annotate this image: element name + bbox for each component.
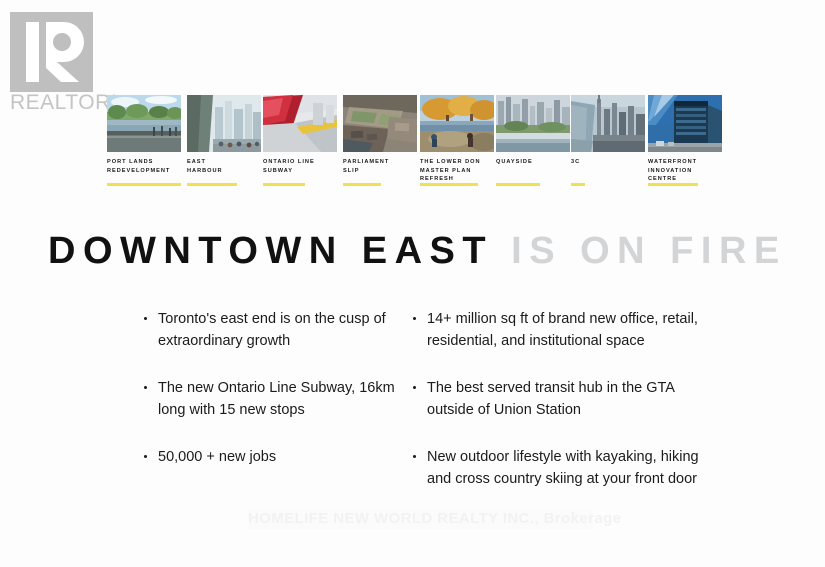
page-title-muted: IS ON FIRE (493, 230, 787, 272)
list-item: The best served transit hub in the GTA o… (410, 377, 700, 422)
project-item-parliament-slip[interactable]: PARLIAMENTSLIP (343, 95, 417, 152)
project-rule-3c (571, 183, 585, 186)
project-thumbnail-toronto-skyline-aerial-image (571, 95, 645, 152)
project-label-ontario-line-subway: ONTARIO LINESUBWAY (263, 158, 315, 175)
list-item: New outdoor lifestyle with kayaking, hik… (410, 446, 700, 491)
project-item-port-lands[interactable]: PORT LANDSREDEVELOPMENT (107, 95, 181, 152)
project-label-east-harbour: EASTHARBOUR (187, 158, 223, 175)
project-thumbnail-glass-towers-image (187, 95, 261, 152)
realtor-wordmark: REALTOR® (10, 92, 118, 113)
project-label-lower-don-master-plan: THE LOWER DONMASTER PLANREFRESH (420, 158, 481, 184)
project-thumbnail-autumn-river-park-image (420, 95, 494, 152)
project-item-east-harbour[interactable]: EASTHARBOUR (187, 95, 261, 152)
project-thumbnail-city-waterfront-image (496, 95, 570, 152)
brokerage-watermark: HOMELIFE NEW WORLD REALTY INC., Brokerag… (248, 509, 593, 529)
list-item: The new Ontario Line Subway, 16km long w… (141, 377, 403, 422)
project-label-3c: 3C (571, 158, 580, 167)
project-label-port-lands: PORT LANDSREDEVELOPMENT (107, 158, 170, 175)
project-thumbnail-blue-glass-office-image (648, 95, 722, 152)
page-title-strong: DOWNTOWN EAST (48, 230, 493, 272)
project-rule-parliament-slip (343, 183, 381, 186)
realtor-r-mark-icon (10, 12, 93, 92)
project-thumbnail-waterfront-park-image (107, 95, 181, 152)
project-rule-east-harbour (187, 183, 237, 186)
bullet-list-right: 14+ million sq ft of brand new office, r… (410, 308, 700, 515)
page-title: DOWNTOWN EAST IS ON FIRE (48, 232, 787, 270)
list-item: 50,000 + new jobs (141, 446, 403, 468)
project-item-lower-don-master-plan[interactable]: THE LOWER DONMASTER PLANREFRESH (420, 95, 494, 152)
project-thumbnail-red-train-image (263, 95, 337, 152)
project-label-quayside: QUAYSIDE (496, 158, 533, 167)
project-rule-quayside (496, 183, 540, 186)
realtor-wordmark-text: REALTOR (10, 91, 111, 114)
project-label-waterfront-innovation-centre: WATERFRONTINNOVATIONCENTRE (648, 158, 697, 184)
project-rule-waterfront-innovation-centre (648, 183, 698, 186)
project-rule-lower-don-master-plan (420, 183, 478, 186)
project-rule-port-lands (107, 183, 181, 186)
list-item: 14+ million sq ft of brand new office, r… (410, 308, 700, 353)
project-thumbnail-strip: PORT LANDSREDEVELOPMENT (107, 95, 737, 195)
project-label-parliament-slip: PARLIAMENTSLIP (343, 158, 389, 175)
project-item-waterfront-innovation-centre[interactable]: WATERFRONTINNOVATIONCENTRE (648, 95, 722, 152)
bullet-list-left: Toronto's east end is on the cusp of ext… (141, 308, 403, 492)
project-item-quayside[interactable]: QUAYSIDE (496, 95, 570, 152)
project-item-ontario-line-subway[interactable]: ONTARIO LINESUBWAY (263, 95, 337, 152)
project-item-3c[interactable]: 3C (571, 95, 645, 152)
project-rule-ontario-line-subway (263, 183, 305, 186)
list-item: Toronto's east end is on the cusp of ext… (141, 308, 403, 353)
project-thumbnail-aerial-site-plan-image (343, 95, 417, 152)
